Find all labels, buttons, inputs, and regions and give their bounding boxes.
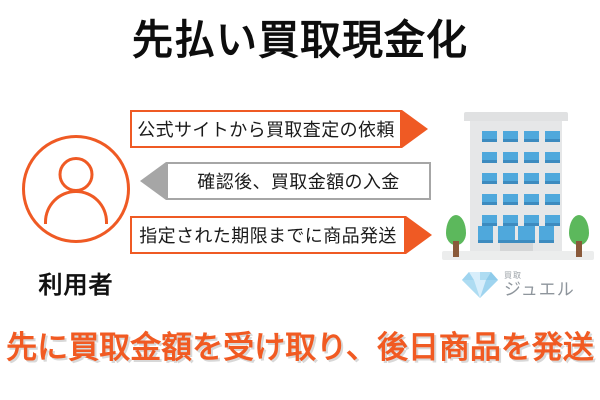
building-window xyxy=(503,173,518,184)
building-door-mat xyxy=(500,243,533,251)
arrow-right-icon xyxy=(402,110,428,148)
building-window xyxy=(524,131,539,142)
tree-icon xyxy=(446,215,466,257)
building-window xyxy=(545,215,560,226)
user-label: 利用者 xyxy=(16,265,136,300)
building-window xyxy=(524,152,539,163)
building-window xyxy=(524,173,539,184)
building-window xyxy=(545,152,560,163)
flow-step-3-label: 指定された期限までに商品発送 xyxy=(130,216,406,254)
building-window xyxy=(482,152,497,163)
diamond-gem-icon xyxy=(462,271,498,299)
building-window xyxy=(539,226,554,243)
building-window xyxy=(503,131,518,142)
building-window xyxy=(478,226,493,243)
building-window xyxy=(503,194,518,205)
arrow-left-icon xyxy=(140,162,166,200)
avatar-head-shape xyxy=(59,157,94,192)
building-window xyxy=(524,215,539,226)
user-block: 利用者 xyxy=(16,135,136,300)
logo-main-label: ジュエル xyxy=(504,281,575,298)
building-window xyxy=(482,131,497,142)
building-window xyxy=(482,215,497,226)
building-body xyxy=(470,121,562,251)
arrow-right-icon xyxy=(406,216,432,254)
company-logo: 買取 ジュエル xyxy=(462,268,592,302)
building-window xyxy=(503,152,518,163)
building-window xyxy=(503,215,518,226)
building-window xyxy=(545,131,560,142)
summary-banner: 先に買取金額を受け取り、後日商品を発送 xyxy=(0,322,600,367)
building-window xyxy=(524,194,539,205)
flow-step-3: 指定された期限までに商品発送 xyxy=(130,216,432,254)
flow-step-2: 確認後、買取金額の入金 xyxy=(140,162,431,200)
building-window xyxy=(482,194,497,205)
page-title: 先払い買取現金化 xyxy=(0,18,600,63)
logo-text: 買取 ジュエル xyxy=(504,272,575,298)
tree-trunk xyxy=(453,241,459,257)
tree-icon xyxy=(569,215,589,257)
flow-step-2-label: 確認後、買取金額の入金 xyxy=(166,162,431,200)
building-window xyxy=(545,173,560,184)
user-avatar-icon xyxy=(22,135,130,243)
building-window xyxy=(482,173,497,184)
avatar-body-shape xyxy=(44,190,108,224)
flow-step-1: 公式サイトから買取査定の依頼 xyxy=(130,110,428,148)
building-roof xyxy=(464,112,568,121)
building-entrance xyxy=(498,226,535,243)
tree-trunk xyxy=(576,241,582,257)
flow-step-1-label: 公式サイトから買取査定の依頼 xyxy=(130,110,402,148)
building-window xyxy=(545,194,560,205)
logo-sub-label: 買取 xyxy=(504,272,575,280)
infographic-canvas: 先払い買取現金化 利用者 公式サイトから買取査定の依頼 確認後、買取金額の入金 … xyxy=(0,0,600,400)
